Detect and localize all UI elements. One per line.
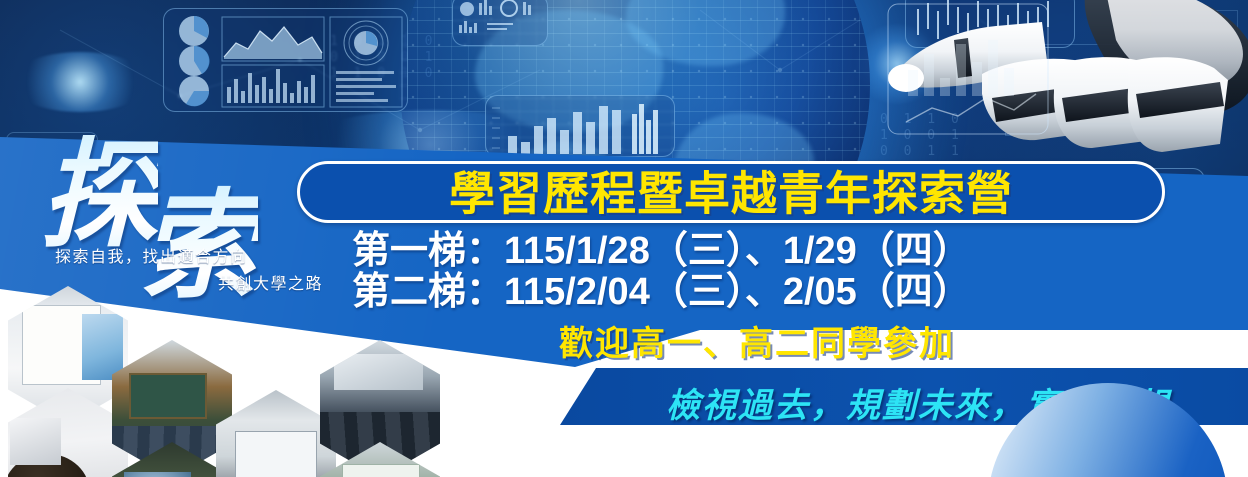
gauge-icon [344,21,388,65]
session-date-1: 第一梯：115/1/28（三）、1/29（四） [352,231,1162,272]
bar-chart-icon [227,69,315,103]
session-dates: 第一梯：115/1/28（三）、1/29（四） 第二梯：115/2/04（三）、… [352,231,1162,313]
event-banner: 1 0 1 1 0 0 1 0 0 1 1 1 0 1 0 0 1 1 0 1 … [0,0,1248,477]
hud-text-rows [336,71,396,102]
session-date-2: 第二梯：115/2/04（三）、2/05（四） [352,272,1162,313]
pie-chart-icon [179,16,210,106]
title-pill: 學習歷程暨卓越青年探索營 [297,161,1165,223]
tagline-line-2: 共創大學之路 [55,270,325,297]
collage-photo [8,388,128,477]
hud-bar-chart-panel [485,95,675,157]
hud-mini-panel [452,0,548,46]
tagline-line-1: 探索自我，找出適合方向 [55,247,248,266]
event-title: 學習歷程暨卓越青年探索營 [300,158,1162,224]
hud-dashboard-panel [163,8,408,112]
welcome-note: 歡迎高一、高二同學參加 [352,316,1162,365]
collage-photo [216,390,336,477]
tagline: 探索自我，找出適合方向 共創大學之路 [55,243,325,297]
area-chart-icon [224,27,322,59]
